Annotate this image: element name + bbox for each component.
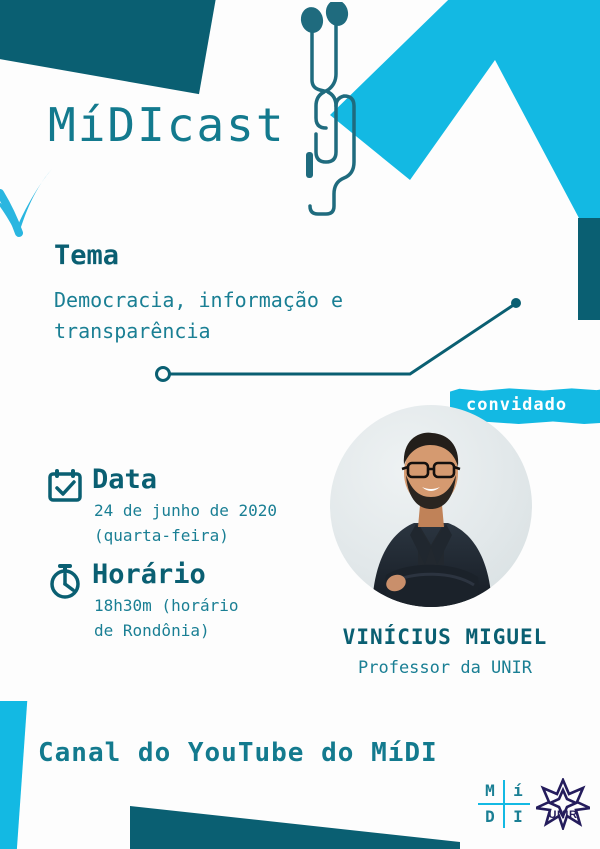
left-cyan-strip: [0, 701, 27, 849]
calendar-icon: [48, 468, 82, 502]
cyan-chevron-shape: [330, 0, 600, 260]
speaker-photo: [330, 405, 532, 607]
time-value: 18h30m (horário de Rondônia): [94, 593, 239, 643]
cyan-brush-checkmark: [0, 163, 62, 243]
connector-line: [152, 290, 532, 390]
speaker-role: Professor da UNIR: [310, 658, 580, 678]
tema-heading: Tema: [54, 240, 119, 271]
date-info-row: Data 24 de junho de 2020 (quarta-feira): [48, 468, 308, 558]
page-title: MíDIcast: [48, 98, 286, 152]
midi-logo: M í D I: [478, 780, 530, 828]
youtube-channel-text: Canal do YouTube do MíDI: [38, 738, 438, 768]
stopwatch-icon: [48, 563, 82, 599]
poster-canvas: MíDIcast Tema Democracia, informação e t…: [0, 0, 600, 849]
unir-label: UNIR: [536, 809, 590, 821]
time-heading: Horário: [92, 559, 206, 590]
midi-logo-letter-d: D: [478, 806, 502, 828]
earbuds-icon: [296, 2, 368, 220]
midi-logo-horizontal-divider: [478, 803, 530, 805]
date-heading: Data: [92, 464, 157, 495]
midi-logo-letter-i-accent: í: [506, 780, 530, 802]
top-left-dark-shape: [0, 0, 216, 94]
bottom-dark-wedge: [130, 806, 460, 849]
time-info-row: Horário 18h30m (horário de Rondônia): [48, 563, 308, 653]
unir-star-icon: [536, 778, 590, 830]
midi-logo-letter-m: M: [478, 780, 502, 802]
midi-logo-letter-i: I: [506, 806, 530, 828]
badge-label: convidado: [466, 395, 567, 415]
date-value: 24 de junho de 2020 (quarta-feira): [94, 498, 277, 548]
right-edge-dark-bar: [578, 218, 600, 320]
speaker-name: VINÍCIUS MIGUEL: [310, 625, 580, 649]
